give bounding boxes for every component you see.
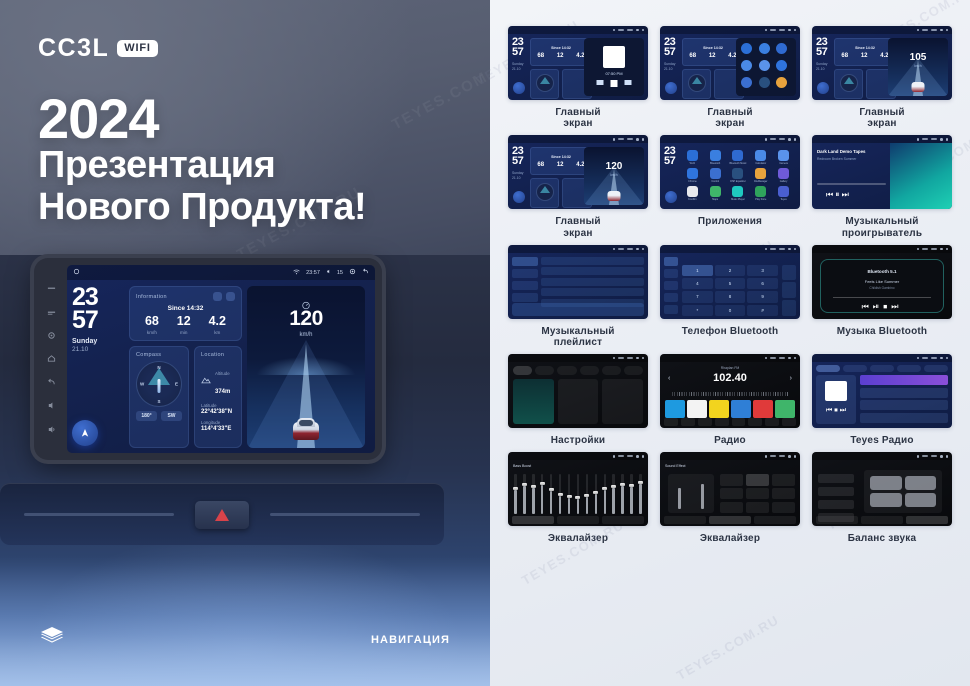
- prev-station-button[interactable]: ‹: [668, 375, 670, 382]
- app-icon[interactable]: [755, 168, 766, 179]
- app-icon[interactable]: [776, 77, 787, 88]
- gallery-item[interactable]: Dark Land Demo TapesRedroom Broken Summe…: [812, 135, 952, 238]
- app-icon[interactable]: [755, 150, 766, 161]
- speed-unit: km/h: [299, 332, 312, 338]
- radio-preset[interactable]: [709, 400, 729, 418]
- gallery-item[interactable]: Баланс звука: [812, 452, 952, 544]
- app-item[interactable]: Music Player: [728, 186, 749, 202]
- app-icon[interactable]: [759, 43, 770, 54]
- radio-preset[interactable]: [775, 400, 795, 418]
- settings-tab[interactable]: [580, 366, 599, 375]
- gallery-item[interactable]: 2357Sunday21.10Since 14:3268124.2105km/h…: [812, 26, 952, 129]
- dial-key[interactable]: *: [682, 305, 713, 316]
- app-icon[interactable]: [687, 150, 698, 161]
- compass-dial: N E S W: [136, 361, 182, 407]
- thumbnail-caption: Главныйэкран: [555, 216, 600, 238]
- station-row[interactable]: [860, 400, 948, 410]
- compass-dir-e: E: [175, 381, 178, 386]
- watermark: TEYES.COM.RU: [389, 54, 490, 134]
- equalizer-band[interactable]: [621, 474, 624, 514]
- equalizer-band[interactable]: [514, 474, 517, 514]
- effect-preset[interactable]: [772, 474, 795, 485]
- thumbnail-content: [508, 253, 648, 319]
- screen-thumbnail[interactable]: 2357Sunday21.10Since 14:3268124.2120km/h: [508, 135, 648, 209]
- app-icon[interactable]: [687, 186, 698, 197]
- eq-tab[interactable]: [754, 516, 796, 524]
- gallery-item[interactable]: Bluetooth 5.1Feels Like SummerChildish G…: [812, 245, 952, 348]
- dashboard-reflection: [0, 556, 490, 686]
- app-icon[interactable]: [732, 186, 743, 197]
- trip-stat-unit: min: [177, 330, 191, 335]
- navigation-arrow-icon[interactable]: [513, 191, 525, 203]
- playlist-category[interactable]: [512, 257, 538, 266]
- settings-tabs[interactable]: [513, 366, 643, 375]
- track-row[interactable]: [541, 257, 644, 265]
- equalizer-tabs[interactable]: [512, 516, 644, 524]
- thumbnail-caption: Teyes Радио: [850, 435, 913, 446]
- gallery-item[interactable]: 2357Sunday21.10Since 14:3268124.207:50 P…: [508, 26, 648, 129]
- screen-thumbnail[interactable]: Rhaplan FM102.40‹›: [660, 354, 800, 428]
- trip-stat-unit: km/h: [145, 330, 159, 335]
- thumb-compass-widget[interactable]: [530, 178, 559, 208]
- carplay-card[interactable]: [558, 379, 599, 424]
- app-item[interactable]: Calculator: [750, 150, 771, 166]
- thumbnail-caption: Эквалайзер: [700, 533, 760, 544]
- power-icon[interactable]: [47, 284, 56, 293]
- track-artist: Childish Gambino: [821, 286, 943, 290]
- app-item[interactable]: Kinofilm: [682, 186, 703, 202]
- radio-preset[interactable]: [665, 400, 685, 418]
- app-label: DSP Equalizer: [728, 180, 749, 183]
- radio-presets[interactable]: [665, 400, 795, 418]
- thumb-status-bar: [508, 245, 648, 253]
- radio-preset[interactable]: [731, 400, 751, 418]
- station-list[interactable]: [860, 375, 948, 424]
- track-row[interactable]: [541, 278, 644, 286]
- track-title: Feels Like Summer: [821, 279, 943, 284]
- player-controls[interactable]: ⏮ ⏸ ⏭: [826, 190, 849, 200]
- clock-date: 21.10: [72, 346, 124, 353]
- thumbnail-content: Rhaplan FM102.40‹›: [660, 362, 800, 428]
- screen-thumbnail[interactable]: [508, 245, 648, 319]
- dialer-tab[interactable]: [664, 305, 678, 314]
- dialer-tab[interactable]: [664, 281, 678, 290]
- teyes-radio-tab[interactable]: [924, 365, 948, 372]
- track-artist: Redroom Broken Summer: [817, 157, 856, 161]
- track-row[interactable]: [541, 288, 644, 296]
- app-icon[interactable]: [741, 43, 752, 54]
- effect-preset[interactable]: [720, 474, 743, 485]
- speaker-icon[interactable]: [905, 476, 937, 490]
- navigation-arrow-icon[interactable]: [817, 82, 829, 94]
- station-row[interactable]: [860, 375, 948, 385]
- home-icon[interactable]: [47, 354, 56, 363]
- home-icon[interactable]: [73, 268, 80, 277]
- now-playing-card[interactable]: ⏮ ⏹ ⏭: [816, 375, 856, 424]
- radio-tool[interactable]: [748, 418, 762, 426]
- radio-tool[interactable]: [715, 418, 729, 426]
- dialer-tab[interactable]: [664, 269, 678, 278]
- dial-key[interactable]: 1: [682, 265, 713, 276]
- dialer-tab[interactable]: [664, 257, 678, 266]
- dial-key[interactable]: 8: [715, 291, 746, 302]
- app-item[interactable]: Play Store: [750, 186, 771, 202]
- effect-presets[interactable]: [720, 474, 795, 513]
- more-card[interactable]: [602, 379, 643, 424]
- screen-thumbnail[interactable]: 2357Sunday21.10Since 14:3268124.207:50 P…: [508, 26, 648, 100]
- eq-slider[interactable]: [701, 484, 704, 509]
- eq-preset-label: Sound Effect: [665, 464, 686, 468]
- app-icon[interactable]: [741, 77, 752, 88]
- effect-preset[interactable]: [772, 502, 795, 513]
- dial-key[interactable]: 9: [747, 291, 778, 302]
- app-icon[interactable]: [759, 60, 770, 71]
- back-icon[interactable]: [665, 191, 677, 203]
- app-icon[interactable]: [732, 150, 743, 161]
- gallery-item[interactable]: 123456789*0#Телефон Bluetooth: [660, 245, 800, 348]
- track-row[interactable]: [541, 267, 644, 275]
- information-expand-icon[interactable]: [226, 292, 235, 301]
- equalizer-band[interactable]: [604, 474, 607, 514]
- dial-key[interactable]: 6: [747, 278, 778, 289]
- radio-tool[interactable]: [782, 418, 796, 426]
- thumb-information-widget[interactable]: Since 14:3268124.2: [530, 147, 592, 175]
- screen-thumbnail[interactable]: Bluetooth 5.1Feels Like SummerChildish G…: [812, 245, 952, 319]
- thumbnail-caption: Главныйэкран: [859, 107, 904, 129]
- eq-tab[interactable]: [664, 516, 706, 524]
- screen-thumbnail[interactable]: Sound Effect: [660, 452, 800, 526]
- dialer-action[interactable]: [782, 265, 796, 281]
- radio-preset[interactable]: [687, 400, 707, 418]
- settings-tab[interactable]: [624, 366, 643, 375]
- balance-preset[interactable]: [818, 487, 854, 496]
- thumb-clock-sub: Sunday21.10: [512, 171, 524, 181]
- effect-preset[interactable]: [720, 502, 743, 513]
- car-3d-model: [291, 414, 321, 440]
- equalizer-tabs[interactable]: [664, 516, 796, 524]
- equalizer-band[interactable]: [586, 474, 589, 514]
- product-logo: CC3L WIFI: [38, 34, 158, 63]
- player-controls[interactable]: ⏮ ⏹ ⏭: [816, 407, 856, 415]
- volume-up-icon[interactable]: [47, 425, 56, 434]
- trip-stat-unit: km: [209, 330, 226, 335]
- radio-frequency: 102.40: [660, 372, 800, 384]
- gallery-item[interactable]: 2357Sunday21.10Since 14:3268124.2120km/h…: [508, 135, 648, 238]
- screen-thumbnail[interactable]: [812, 452, 952, 526]
- settings-icon[interactable]: [349, 268, 356, 277]
- station-row[interactable]: [860, 413, 948, 423]
- thumbnail-content: 2357Wi-FiBluetoothBluetooth MusicCalcula…: [660, 143, 800, 209]
- app-icon[interactable]: [710, 186, 721, 197]
- balance-tab[interactable]: [816, 516, 858, 524]
- screen-thumbnail[interactable]: 2357Sunday21.10Since 14:3268124.2: [660, 26, 800, 100]
- thumbnail-caption: Музыка Bluetooth: [837, 326, 927, 337]
- dialer-tab[interactable]: [664, 293, 678, 302]
- trip-stat: 68 km/h: [145, 315, 159, 335]
- gallery-item[interactable]: Bass BoostЭквалайзер: [508, 452, 648, 544]
- playlist-category[interactable]: [512, 293, 538, 302]
- volume-down-icon[interactable]: [47, 401, 56, 410]
- screen-thumbnail[interactable]: Bass Boost: [508, 452, 648, 526]
- dial-key[interactable]: 7: [682, 291, 713, 302]
- radio-tool[interactable]: [732, 418, 746, 426]
- gallery-item[interactable]: 2357Sunday21.10Since 14:3268124.2Главный…: [660, 26, 800, 129]
- navigation-arrow-icon[interactable]: [513, 82, 525, 94]
- app-icon[interactable]: [776, 60, 787, 71]
- next-station-button[interactable]: ›: [790, 375, 792, 382]
- app-grid[interactable]: Wi-FiBluetoothBluetooth MusicCalculatorC…: [680, 147, 796, 205]
- settings-cards[interactable]: [513, 379, 643, 424]
- app-icon[interactable]: [755, 186, 766, 197]
- eq-tab[interactable]: [557, 516, 599, 524]
- dial-pad[interactable]: 123456789*0#: [682, 265, 778, 316]
- teyes-radio-tab[interactable]: [870, 365, 894, 372]
- dialer-actions[interactable]: [782, 265, 796, 316]
- gallery-item[interactable]: Rhaplan FM102.40‹›Радио: [660, 354, 800, 446]
- thumbnail-content: Sound Effect: [660, 460, 800, 526]
- thumb-information-widget[interactable]: Since 14:3268124.2: [834, 38, 896, 66]
- app-item[interactable]: Bluetooth Music: [728, 150, 749, 166]
- longitude-label: Longitude: [201, 420, 235, 425]
- thumb-app-shortcuts[interactable]: [736, 38, 796, 96]
- effect-preset[interactable]: [746, 502, 769, 513]
- mute-icon[interactable]: [47, 308, 56, 317]
- thumb-clock: 2357: [512, 147, 523, 167]
- eq-slider[interactable]: [678, 488, 681, 510]
- station-row[interactable]: [860, 388, 948, 398]
- settings-tab[interactable]: [602, 366, 621, 375]
- playlist-category[interactable]: [512, 281, 538, 290]
- app-item[interactable]: Bluetooth: [705, 150, 726, 166]
- speed-navigation-widget[interactable]: 120 km/h: [247, 286, 365, 448]
- dial-key[interactable]: #: [747, 305, 778, 316]
- equalizer-bands[interactable]: [514, 474, 642, 514]
- thumb-status-bar: [508, 26, 648, 34]
- equalizer-band[interactable]: [568, 474, 571, 514]
- teyes-radio-tab[interactable]: [897, 365, 921, 372]
- effect-preset[interactable]: [746, 488, 769, 499]
- gear-icon[interactable]: [47, 331, 56, 340]
- thumbnail-caption: Радио: [714, 435, 746, 446]
- settings-tab[interactable]: [535, 366, 554, 375]
- thumb-clock: 2357: [664, 38, 675, 58]
- trip-stat: 12 min: [177, 315, 191, 335]
- eq-preset-label: Bass Boost: [513, 464, 531, 468]
- thumb-speed-widget[interactable]: 105km/h: [888, 38, 948, 96]
- equalizer-band[interactable]: [612, 474, 615, 514]
- dialer-action[interactable]: [782, 300, 796, 316]
- thumb-status-bar: [812, 26, 952, 34]
- radio-tool[interactable]: [664, 418, 678, 426]
- screen-thumbnail[interactable]: 123456789*0#: [660, 245, 800, 319]
- balance-tab[interactable]: [861, 516, 903, 524]
- player-controls[interactable]: ⏮⏯⏹⏭: [821, 302, 943, 312]
- equalizer-band[interactable]: [559, 474, 562, 514]
- thumb-speed-widget[interactable]: 120km/h: [584, 147, 644, 205]
- app-item[interactable]: Control: [705, 168, 726, 184]
- information-refresh-icon[interactable]: [213, 292, 222, 301]
- screen-thumbnail[interactable]: 2357Wi-FiBluetoothBluetooth MusicCalcula…: [660, 135, 800, 209]
- app-icon[interactable]: [710, 168, 721, 179]
- gallery-item[interactable]: Музыкальныйплейлист: [508, 245, 648, 348]
- app-label: Teyes: [773, 198, 794, 201]
- location-widget[interactable]: Location Altitude 374m: [194, 346, 242, 449]
- dialer-action[interactable]: [782, 282, 796, 298]
- head-unit-side-keys[interactable]: [38, 267, 65, 451]
- compass-widget[interactable]: Compass N E S W: [129, 346, 189, 449]
- dial-key[interactable]: 0: [715, 305, 746, 316]
- playlist-tracks[interactable]: [541, 257, 644, 301]
- teyes-radio-tab[interactable]: [816, 365, 840, 372]
- effect-preset[interactable]: [720, 488, 743, 499]
- gallery-item[interactable]: Sound EffectЭквалайзер: [660, 452, 800, 544]
- thumb-information-widget[interactable]: Since 14:3268124.2: [682, 38, 744, 66]
- presentation-page: TEYES.COM.RU TEYES.COM.RU TEYES.COM.RU T…: [0, 0, 970, 686]
- thumb-compass-widget[interactable]: [682, 69, 711, 99]
- balance-pad[interactable]: [864, 470, 942, 513]
- thumbnail-content: [812, 460, 952, 526]
- eq-tab[interactable]: [602, 516, 644, 524]
- thumb-information-widget[interactable]: Since 14:3268124.2: [530, 38, 592, 66]
- playlist-sidebar[interactable]: [512, 257, 538, 301]
- gallery-item[interactable]: Настройки: [508, 354, 648, 446]
- settings-tab[interactable]: [513, 366, 532, 375]
- app-item[interactable]: Wi-Fi: [682, 150, 703, 166]
- app-label: Bluetooth: [705, 162, 726, 165]
- gallery-item[interactable]: 2357Wi-FiBluetoothBluetooth MusicCalcula…: [660, 135, 800, 238]
- app-item[interactable]: Gallery: [773, 168, 794, 184]
- thumbnail-caption: Эквалайзер: [548, 533, 608, 544]
- app-icon[interactable]: [778, 168, 789, 179]
- app-icon[interactable]: [776, 43, 787, 54]
- app-icon[interactable]: [732, 168, 743, 179]
- effect-preset[interactable]: [772, 488, 795, 499]
- gallery-item[interactable]: ⏮ ⏹ ⏭Teyes Радио: [812, 354, 952, 446]
- thumbnail-content: ⏮ ⏹ ⏭: [812, 362, 952, 428]
- thumb-media-widget[interactable]: 07:50 PM: [584, 38, 644, 96]
- thumbnail-content: [508, 362, 648, 428]
- balance-presets[interactable]: [818, 474, 854, 512]
- hazard-button[interactable]: [195, 501, 249, 529]
- screen-thumbnail[interactable]: 2357Sunday21.10Since 14:3268124.2105km/h: [812, 26, 952, 100]
- radio-preset[interactable]: [753, 400, 773, 418]
- dial-key[interactable]: 5: [715, 278, 746, 289]
- wifi-card[interactable]: [513, 379, 554, 424]
- trip-since-label: Since 14:32: [136, 305, 235, 312]
- thumb-compass-widget[interactable]: [530, 69, 559, 99]
- thumb-status-bar: [812, 452, 952, 460]
- equalizer-band[interactable]: [541, 474, 544, 514]
- dial-key[interactable]: 3: [747, 265, 778, 276]
- app-icon[interactable]: [778, 150, 789, 161]
- track-title: Dark Land Demo Tapes: [817, 149, 865, 154]
- thumb-status-bar: [508, 354, 648, 362]
- screen-thumbnail[interactable]: Dark Land Demo TapesRedroom Broken Summe…: [812, 135, 952, 209]
- speed-value: 120: [289, 307, 323, 331]
- screen-thumbnail[interactable]: [508, 354, 648, 428]
- navigation-arrow-icon[interactable]: [665, 82, 677, 94]
- effect-preset[interactable]: [746, 474, 769, 485]
- teyes-radio-tab[interactable]: [843, 365, 867, 372]
- app-icon[interactable]: [759, 77, 770, 88]
- equalizer-band[interactable]: [595, 474, 598, 514]
- equalizer-band[interactable]: [532, 474, 535, 514]
- clock-widget[interactable]: 23 57 Sunday 21.10: [72, 286, 124, 448]
- compass-needle: [158, 379, 161, 393]
- settings-tab[interactable]: [557, 366, 576, 375]
- teyes-radio-tabs[interactable]: [816, 365, 948, 372]
- head-unit-screen[interactable]: 23:57 15: [67, 265, 375, 453]
- back-icon[interactable]: [47, 378, 56, 387]
- equalizer-band[interactable]: [523, 474, 526, 514]
- radio-tool[interactable]: [681, 418, 695, 426]
- app-item[interactable]: Teyes: [773, 186, 794, 202]
- radio-tool[interactable]: [765, 418, 779, 426]
- equalizer-band[interactable]: [577, 474, 580, 514]
- equalizer-band[interactable]: [630, 474, 633, 514]
- radio-tool[interactable]: [698, 418, 712, 426]
- dial-key[interactable]: 4: [682, 278, 713, 289]
- navigation-arrow-icon[interactable]: [72, 420, 98, 446]
- speaker-icon[interactable]: [870, 476, 902, 490]
- thumb-clock-sub: Sunday21.10: [664, 62, 676, 72]
- balance-tabs[interactable]: [816, 516, 948, 524]
- app-item[interactable]: Maps: [705, 186, 726, 202]
- player-bar[interactable]: [512, 303, 644, 316]
- navigation-label: НАВИГАЦИЯ: [371, 634, 450, 646]
- compass-dir-s: S: [157, 399, 160, 404]
- trip-stats: 68 km/h 12 min 4.2 km: [136, 315, 235, 335]
- dial-key[interactable]: 2: [715, 265, 746, 276]
- balance-preset[interactable]: [818, 500, 854, 509]
- equalizer-band[interactable]: [639, 474, 642, 514]
- app-item[interactable]: FileManager: [750, 168, 771, 184]
- volume-level: 15: [337, 270, 343, 276]
- back-arrow-icon[interactable]: [362, 268, 369, 277]
- thumb-status-bar: [660, 452, 800, 460]
- balance-preset[interactable]: [818, 474, 854, 483]
- equalizer-band[interactable]: [550, 474, 553, 514]
- information-widget[interactable]: Information Since 14:32 68: [129, 286, 242, 341]
- playlist-category[interactable]: [512, 269, 538, 278]
- trip-stat: 4.2 km: [209, 315, 226, 335]
- thumb-compass-widget[interactable]: [834, 69, 863, 99]
- app-icon[interactable]: [687, 168, 698, 179]
- altitude-value: 374m: [215, 389, 230, 395]
- eq-tab[interactable]: [709, 516, 751, 524]
- thumbnail-caption: Музыкальныйплейлист: [541, 326, 614, 348]
- app-item[interactable]: Camera: [773, 150, 794, 166]
- app-icon[interactable]: [741, 60, 752, 71]
- balance-tab[interactable]: [906, 516, 948, 524]
- speaker-icon[interactable]: [870, 493, 902, 507]
- watermark: TEYES.COM.RU: [674, 612, 782, 683]
- screen-thumbnail[interactable]: ⏮ ⏹ ⏭: [812, 354, 952, 428]
- eq-sliders[interactable]: [668, 474, 714, 513]
- thumbnail-content: Dark Land Demo TapesRedroom Broken Summe…: [812, 143, 952, 209]
- eq-tab[interactable]: [512, 516, 554, 524]
- wifi-badge: WIFI: [117, 40, 157, 57]
- app-label: Maps: [705, 198, 726, 201]
- app-icon[interactable]: [710, 150, 721, 161]
- app-item[interactable]: DSP Equalizer: [728, 168, 749, 184]
- dialer-sidebar[interactable]: [664, 257, 678, 315]
- speaker-icon[interactable]: [905, 493, 937, 507]
- thumb-status-bar: [660, 245, 800, 253]
- radio-toolbar[interactable]: [664, 418, 796, 426]
- app-icon[interactable]: [778, 186, 789, 197]
- app-item[interactable]: Chrome: [682, 168, 703, 184]
